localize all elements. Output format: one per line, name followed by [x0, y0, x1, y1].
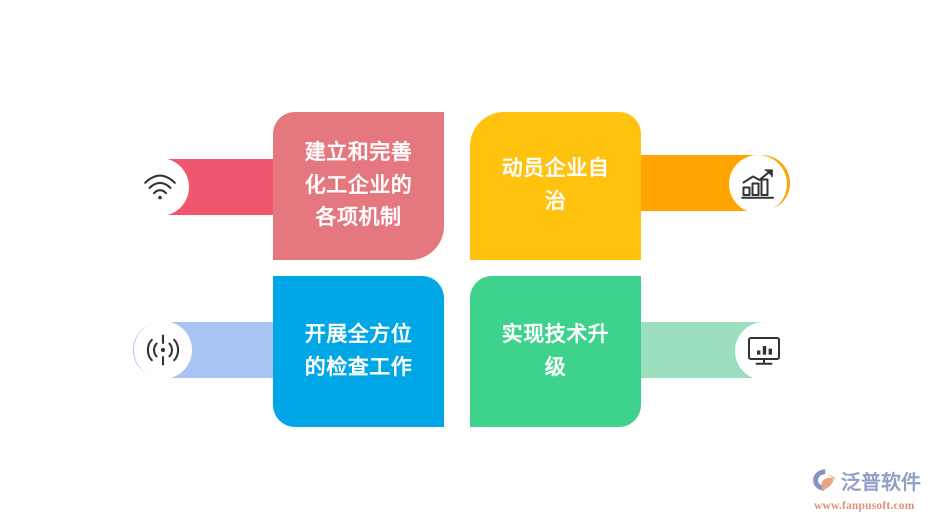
- icon-badge-top-right: [729, 155, 787, 213]
- icon-badge-top-left: [131, 158, 189, 216]
- icon-badge-bottom-right: [735, 322, 793, 380]
- watermark-brand-text: 泛普软件: [841, 473, 921, 493]
- fanpusoft-logo-icon: [812, 468, 838, 497]
- icon-badge-bottom-left: [134, 321, 192, 379]
- quadrant-card-bottom-left[interactable]: 开展全方位 的检查工作: [273, 276, 444, 427]
- card-label-top-right: 动员企业自 治: [502, 153, 610, 218]
- card-label-bottom-right: 实现技术升 级: [502, 319, 610, 384]
- quadrant-card-top-right[interactable]: 动员企业自 治: [470, 112, 641, 260]
- infographic-canvas: 建立和完善 化工企业的 各项机制 动员企业自 治 开展全方位 的检查工作 实现技…: [0, 0, 939, 526]
- quadrant-card-bottom-right[interactable]: 实现技术升 级: [470, 276, 641, 427]
- watermark-brand-row: 泛普软件: [812, 468, 921, 497]
- bar-chart-growth-icon: [741, 168, 775, 200]
- wifi-icon: [143, 174, 177, 201]
- watermark-url-text: www.fanpusoft.com: [814, 500, 915, 512]
- quadrant-card-top-left[interactable]: 建立和完善 化工企业的 各项机制: [273, 112, 444, 260]
- watermark: 泛普软件 www.fanpusoft.com: [812, 468, 932, 516]
- card-label-bottom-left: 开展全方位 的检查工作: [305, 319, 413, 384]
- monitor-chart-icon: [747, 336, 781, 367]
- signal-broadcast-icon: [146, 333, 180, 367]
- card-label-top-left: 建立和完善 化工企业的 各项机制: [305, 137, 413, 235]
